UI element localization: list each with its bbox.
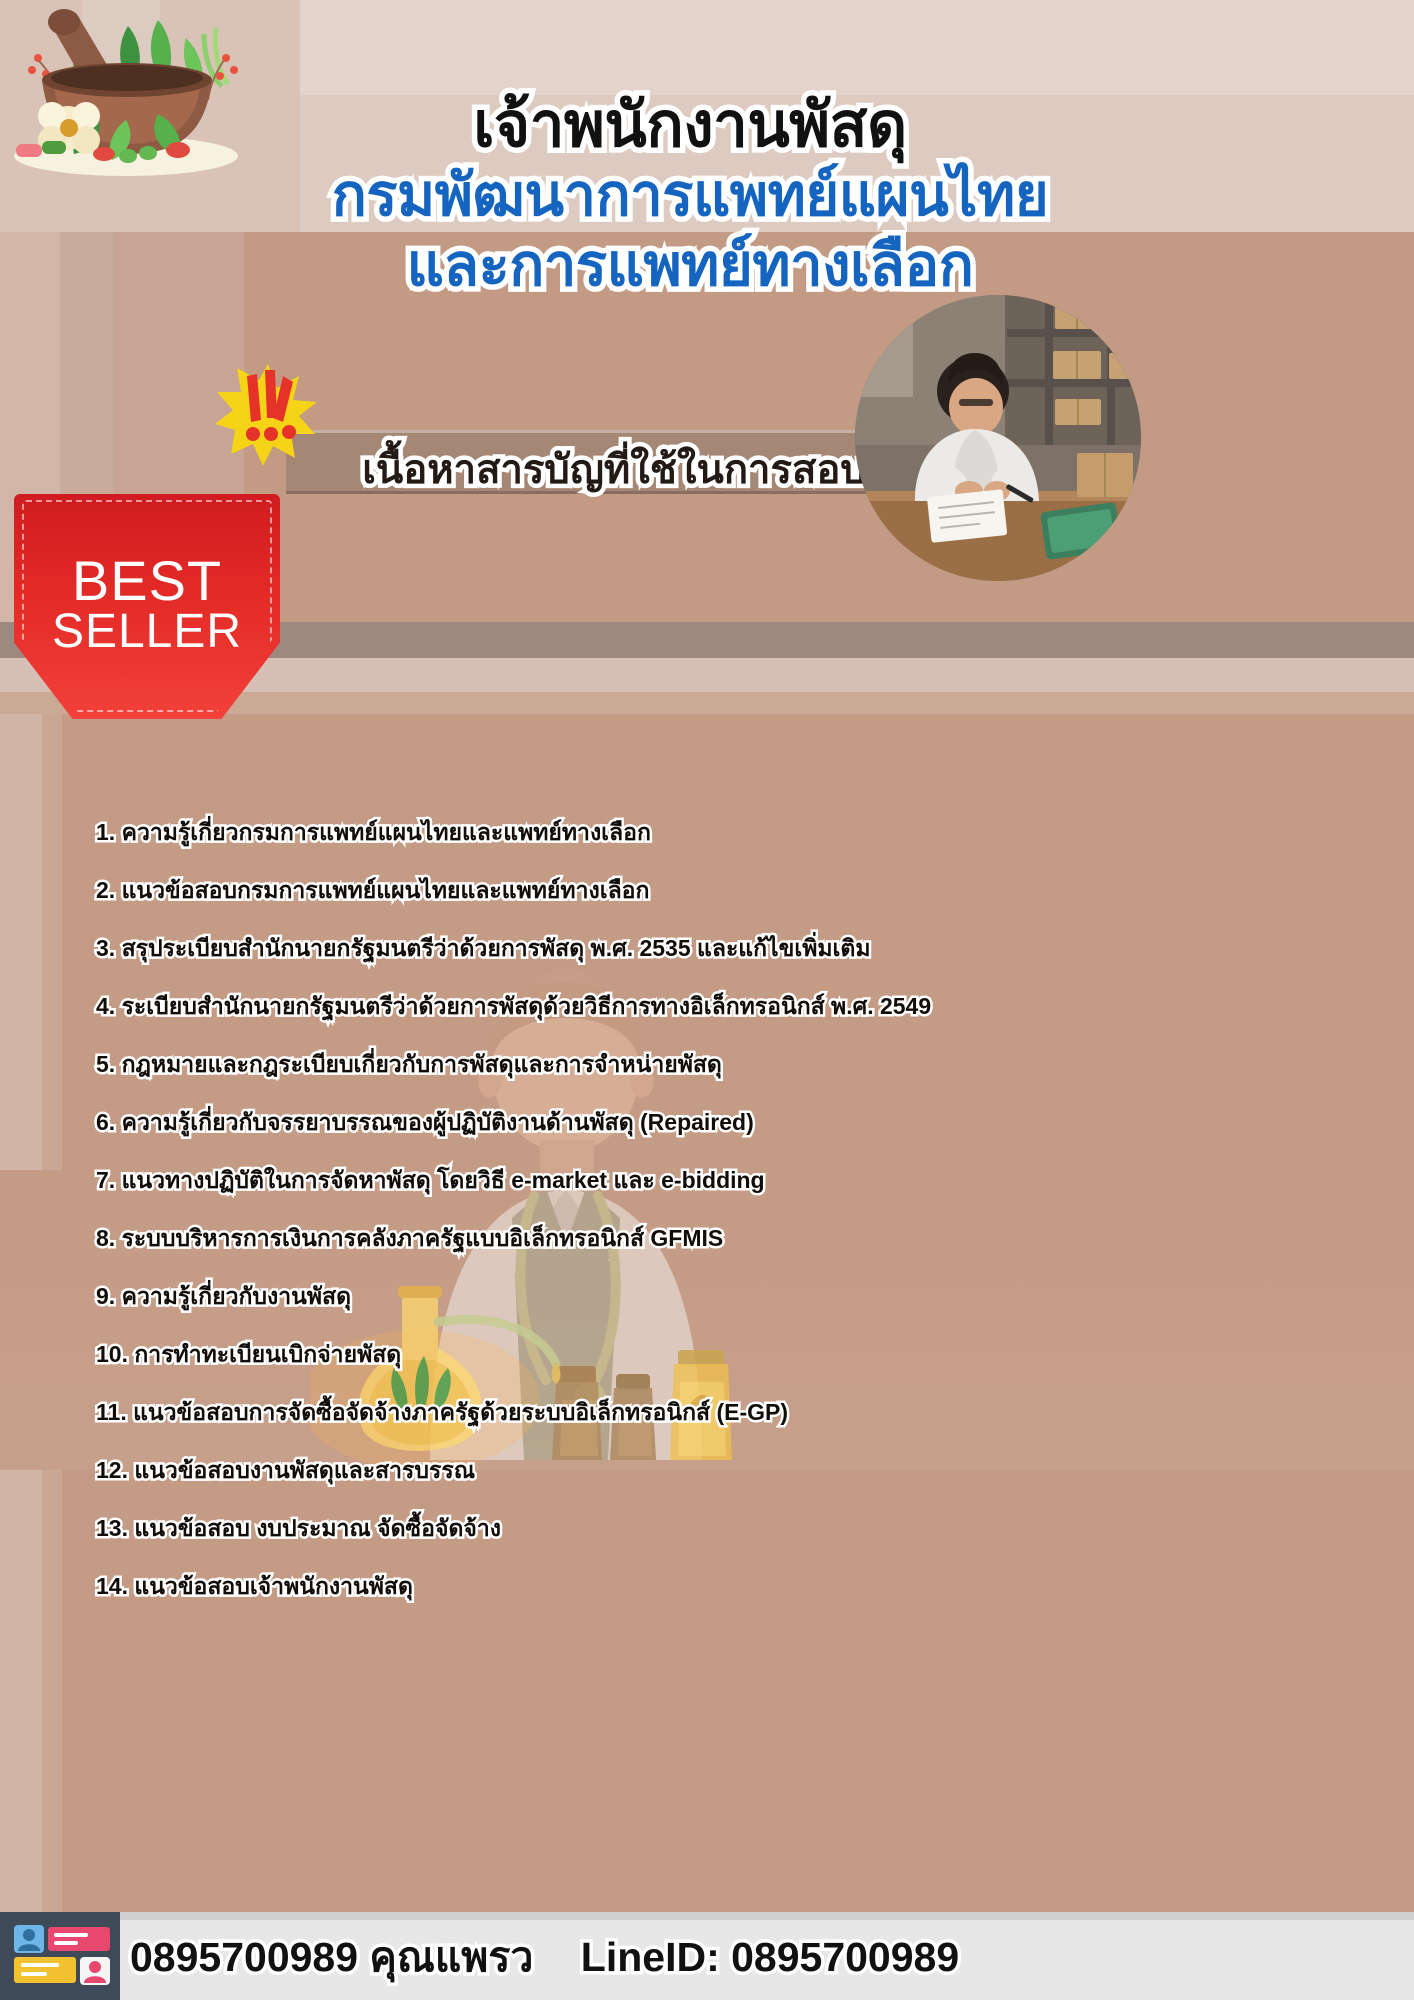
list-item: 1. ความรู้เกี่ยวกรมการแพทย์แผนไทยและแพทย… (96, 815, 1316, 851)
list-item: 11. แนวข้อสอบการจัดซื้อจัดจ้างภาครัฐด้วย… (96, 1395, 1316, 1431)
list-item: 5. กฎหมายและกฎระเบียบเกี่ยวกับการพัสดุแล… (96, 1047, 1316, 1083)
exclamation-burst-icon (213, 358, 323, 468)
footer-phone: 0895700989 คุณแพรว (130, 1934, 533, 1980)
best-seller-badge-line-2: SELLER (14, 604, 280, 659)
list-item: 12. แนวข้อสอบงานพัสดุและสารบรรณ (96, 1453, 1316, 1489)
list-item: 2. แนวข้อสอบกรมการแพทย์แผนไทยและแพทย์ทาง… (96, 873, 1316, 909)
list-item: 13. แนวข้อสอบ งบประมาณ จัดซื้อจัดจ้าง (96, 1511, 1316, 1547)
footer-contact: 0895700989 คุณแพรว LineID: 0895700989 (130, 1925, 1400, 1990)
footer-line-id: LineID: 0895700989 (581, 1934, 959, 1980)
list-item: 6. ความรู้เกี่ยวกับจรรยาบรรณของผู้ปฏิบัต… (96, 1105, 1316, 1141)
bg-band-footer-edge (0, 1912, 1414, 1920)
list-item: 8. ระบบบริหารการเงินการคลังภาครัฐแบบอิเล… (96, 1221, 1316, 1257)
list-item: 4. ระเบียบสำนักนายกรัฐมนตรีว่าด้วยการพัส… (96, 989, 1316, 1025)
warehouse-worker-photo (855, 295, 1141, 581)
list-item: 7. แนวทางปฏิบัติในการจัดหาพัสดุ โดยวิธี … (96, 1163, 1316, 1199)
list-item: 10. การทำทะเบียนเบิกจ่ายพัสดุ (96, 1337, 1316, 1373)
title-line-3: และการแพทย์ทางเลือก (240, 237, 1140, 295)
list-item: 3. สรุประเบียบสำนักนายกรัฐมนตรีว่าด้วยกา… (96, 931, 1316, 967)
contents-list: 1. ความรู้เกี่ยวกรมการแพทย์แผนไทยและแพทย… (96, 815, 1316, 1627)
list-item: 9. ความรู้เกี่ยวกับงานพัสดุ (96, 1279, 1316, 1315)
list-item: 14. แนวข้อสอบเจ้าพนักงานพัสดุ (96, 1569, 1316, 1605)
poster-title-group: เจ้าพนักงานพัสดุ กรมพัฒนาการแพทย์แผนไทย … (240, 95, 1140, 295)
title-line-1: เจ้าพนักงานพัสดุ (240, 95, 1140, 157)
contact-icons (14, 1925, 114, 1987)
title-line-2: กรมพัฒนาการแพทย์แผนไทย (240, 167, 1140, 225)
mortar-and-pestle-herbs-icon (8, 8, 258, 178)
